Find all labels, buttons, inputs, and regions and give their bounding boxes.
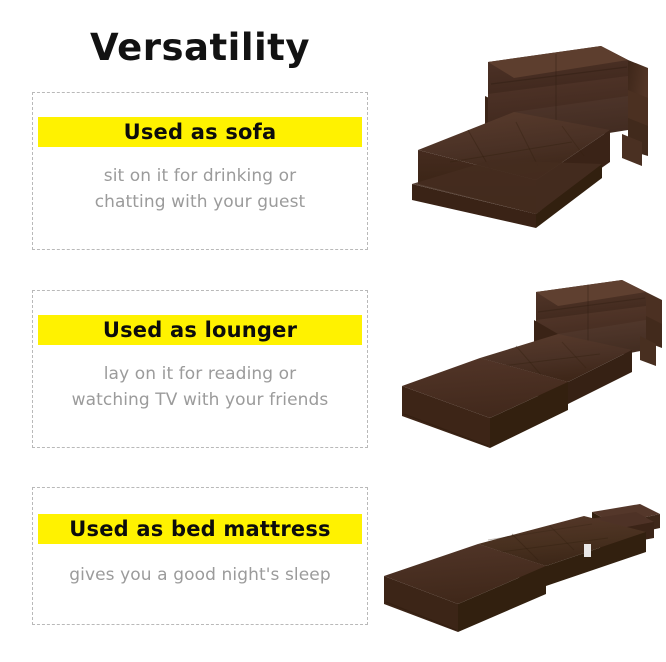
card-body-line: lay on it for reading or (41, 361, 359, 387)
card-body-bed: gives you a good night's sleep (41, 562, 359, 588)
card-heading-lounger: Used as lounger (38, 315, 362, 345)
feature-card-lounger: Used as lounger lay on it for reading or… (32, 290, 368, 448)
card-body-sofa: sit on it for drinking or chatting with … (41, 163, 359, 215)
product-photo-sofa (396, 38, 666, 233)
card-body-line: gives you a good night's sleep (41, 562, 359, 588)
card-heading-sofa: Used as sofa (38, 117, 362, 147)
feature-card-sofa: Used as sofa sit on it for drinking or c… (32, 92, 368, 250)
card-body-line: sit on it for drinking or (41, 163, 359, 189)
feature-card-bed: Used as bed mattress gives you a good ni… (32, 487, 368, 625)
card-heading-bed: Used as bed mattress (38, 514, 362, 544)
card-body-line: watching TV with your friends (41, 387, 359, 413)
card-body-line: chatting with your guest (41, 189, 359, 215)
page-title: Versatility (0, 26, 400, 69)
product-photo-lounger (396, 272, 666, 462)
infographic-page: Versatility Used as sofa sit on it for d… (0, 0, 666, 662)
product-photo-bed (378, 482, 666, 640)
card-body-lounger: lay on it for reading or watching TV wit… (41, 361, 359, 413)
